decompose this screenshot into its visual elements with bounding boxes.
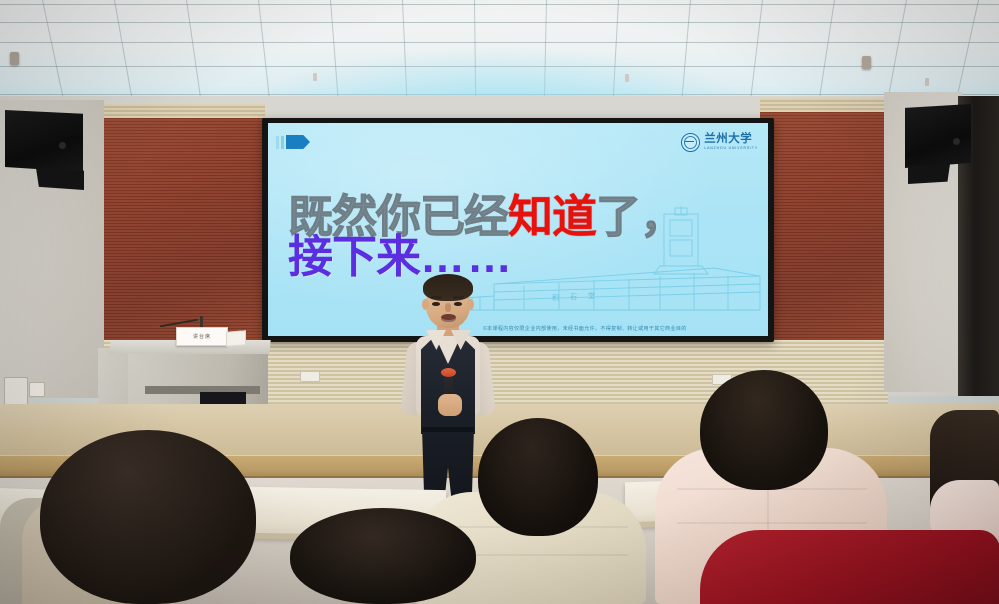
arrow-bar-2 [281, 136, 284, 149]
microphone-windscreen-icon [441, 368, 456, 377]
audience-mid-center [478, 418, 598, 536]
headline-highlight-purple: 接下来 [288, 231, 420, 282]
acoustic-panel-left [100, 118, 265, 343]
ceiling-fixture-icon [313, 73, 317, 81]
presenter-brow-right [453, 296, 464, 299]
logo-en-name: LANZHOU UNIVERSITY [704, 147, 758, 150]
presenter-eye-left [432, 302, 440, 306]
light-switch-icon[interactable] [4, 377, 28, 405]
audience-front-center [290, 508, 476, 604]
presenter-ear-right [467, 299, 474, 310]
wall-speaker-right [905, 104, 971, 168]
university-logo: 兰州大学 LANZHOU UNIVERSITY [681, 133, 758, 152]
arrow-marker-icon [276, 135, 310, 149]
ceiling-grid-line [0, 22, 999, 23]
presenter-ear-left [422, 299, 429, 310]
building-name-2: 石 [570, 293, 577, 301]
power-socket-icon[interactable] [29, 382, 45, 397]
speaker-driver-icon [59, 142, 66, 149]
arrow-tip [286, 135, 310, 149]
presenter-belt [422, 427, 474, 432]
ceiling-grid-line [0, 42, 999, 43]
headline-part-3: 了， [596, 191, 684, 242]
podium-nameplate: 讲台席 [176, 327, 228, 346]
acoustic-panel-right [760, 112, 888, 344]
sprinkler-icon [862, 56, 871, 69]
speaker-bracket-right [908, 164, 950, 184]
wall-outlet-icon [300, 371, 320, 382]
wall-speaker-left [5, 110, 83, 172]
logo-cn-name: 兰州大学 [704, 134, 758, 146]
speaker-bracket-left [36, 168, 84, 190]
podium-paper [226, 330, 246, 346]
presenter-brow-left [431, 296, 442, 299]
slide-headline: 既然你已经知道了， 接下来…… [288, 195, 758, 278]
ceiling-fixture-icon [925, 78, 929, 86]
speaker-driver-icon [953, 138, 960, 145]
audience-mid-right [700, 370, 828, 490]
presenter-trousers [422, 428, 474, 496]
presenter-hands [438, 394, 462, 416]
presenter-eye-right [454, 302, 462, 306]
quilt-seam [677, 522, 867, 524]
audience-front-right [700, 530, 999, 604]
lanzhou-university-seal-icon [681, 133, 700, 152]
audience-front-left [40, 430, 256, 604]
presenter-nose [445, 303, 451, 312]
lecture-hall-photo: 积 石 堂 兰州大学 LANZHOU UNIVERSITY 既然你已经知道了， … [0, 0, 999, 604]
slide-copyright: ©本课程内容仅限企业内部使用，未经书面允许，不得复制、转让或用于其它商业目的 [483, 325, 687, 332]
arrow-bar-1 [276, 136, 279, 149]
presenter-mouth [441, 314, 456, 322]
building-name-1: 积 [552, 293, 559, 302]
podium-body [128, 352, 268, 408]
headline-ellipsis: …… [420, 231, 514, 282]
projection-screen[interactable]: 积 石 堂 兰州大学 LANZHOU UNIVERSITY 既然你已经知道了， … [268, 123, 768, 336]
nameplate-text: 讲台席 [193, 333, 211, 340]
building-name-3: 堂 [588, 291, 595, 300]
headline-highlight-red: 知道 [508, 191, 596, 242]
ceiling-grid-line [0, 4, 999, 5]
ceiling-fixture-icon [625, 74, 629, 82]
sprinkler-icon [10, 52, 19, 65]
logo-text: 兰州大学 LANZHOU UNIVERSITY [704, 134, 758, 150]
